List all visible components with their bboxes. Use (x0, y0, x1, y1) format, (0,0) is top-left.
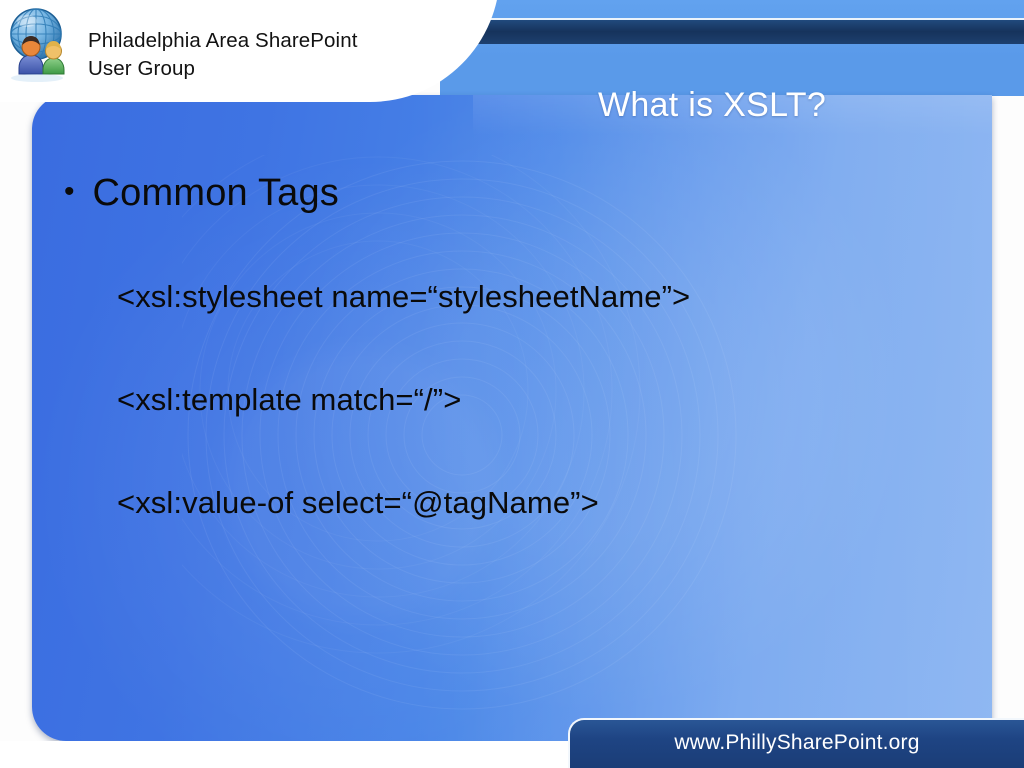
code-line: <xsl:template match=“/”> (117, 381, 960, 419)
footer-bar: www.PhillySharePoint.org (568, 718, 1024, 768)
page-title: What is XSLT? (0, 86, 1024, 125)
code-line: <xsl:value-of select=“@tagName”> (117, 484, 960, 522)
code-sample-list: <xsl:stylesheet name=“stylesheetName”> <… (117, 278, 960, 522)
globe-with-people-icon (3, 6, 73, 84)
presentation-slide: Philadelphia Area SharePoint User Group … (0, 0, 1024, 768)
bullet-item-common-tags: • Common Tags (64, 170, 960, 216)
top-navy-bar (473, 18, 1024, 44)
organization-title: Philadelphia Area SharePoint User Group (88, 27, 358, 83)
bullet-label: Common Tags (93, 170, 340, 216)
footer-website-url: www.PhillySharePoint.org (674, 731, 919, 755)
code-line: <xsl:stylesheet name=“stylesheetName”> (117, 278, 960, 316)
top-accent-strip (440, 0, 1024, 96)
bullet-marker-icon: • (64, 170, 75, 214)
slide-body: • Common Tags <xsl:stylesheet name=“styl… (60, 170, 960, 522)
footer-white-notch (0, 741, 572, 768)
page-title-text: What is XSLT? (598, 86, 826, 125)
